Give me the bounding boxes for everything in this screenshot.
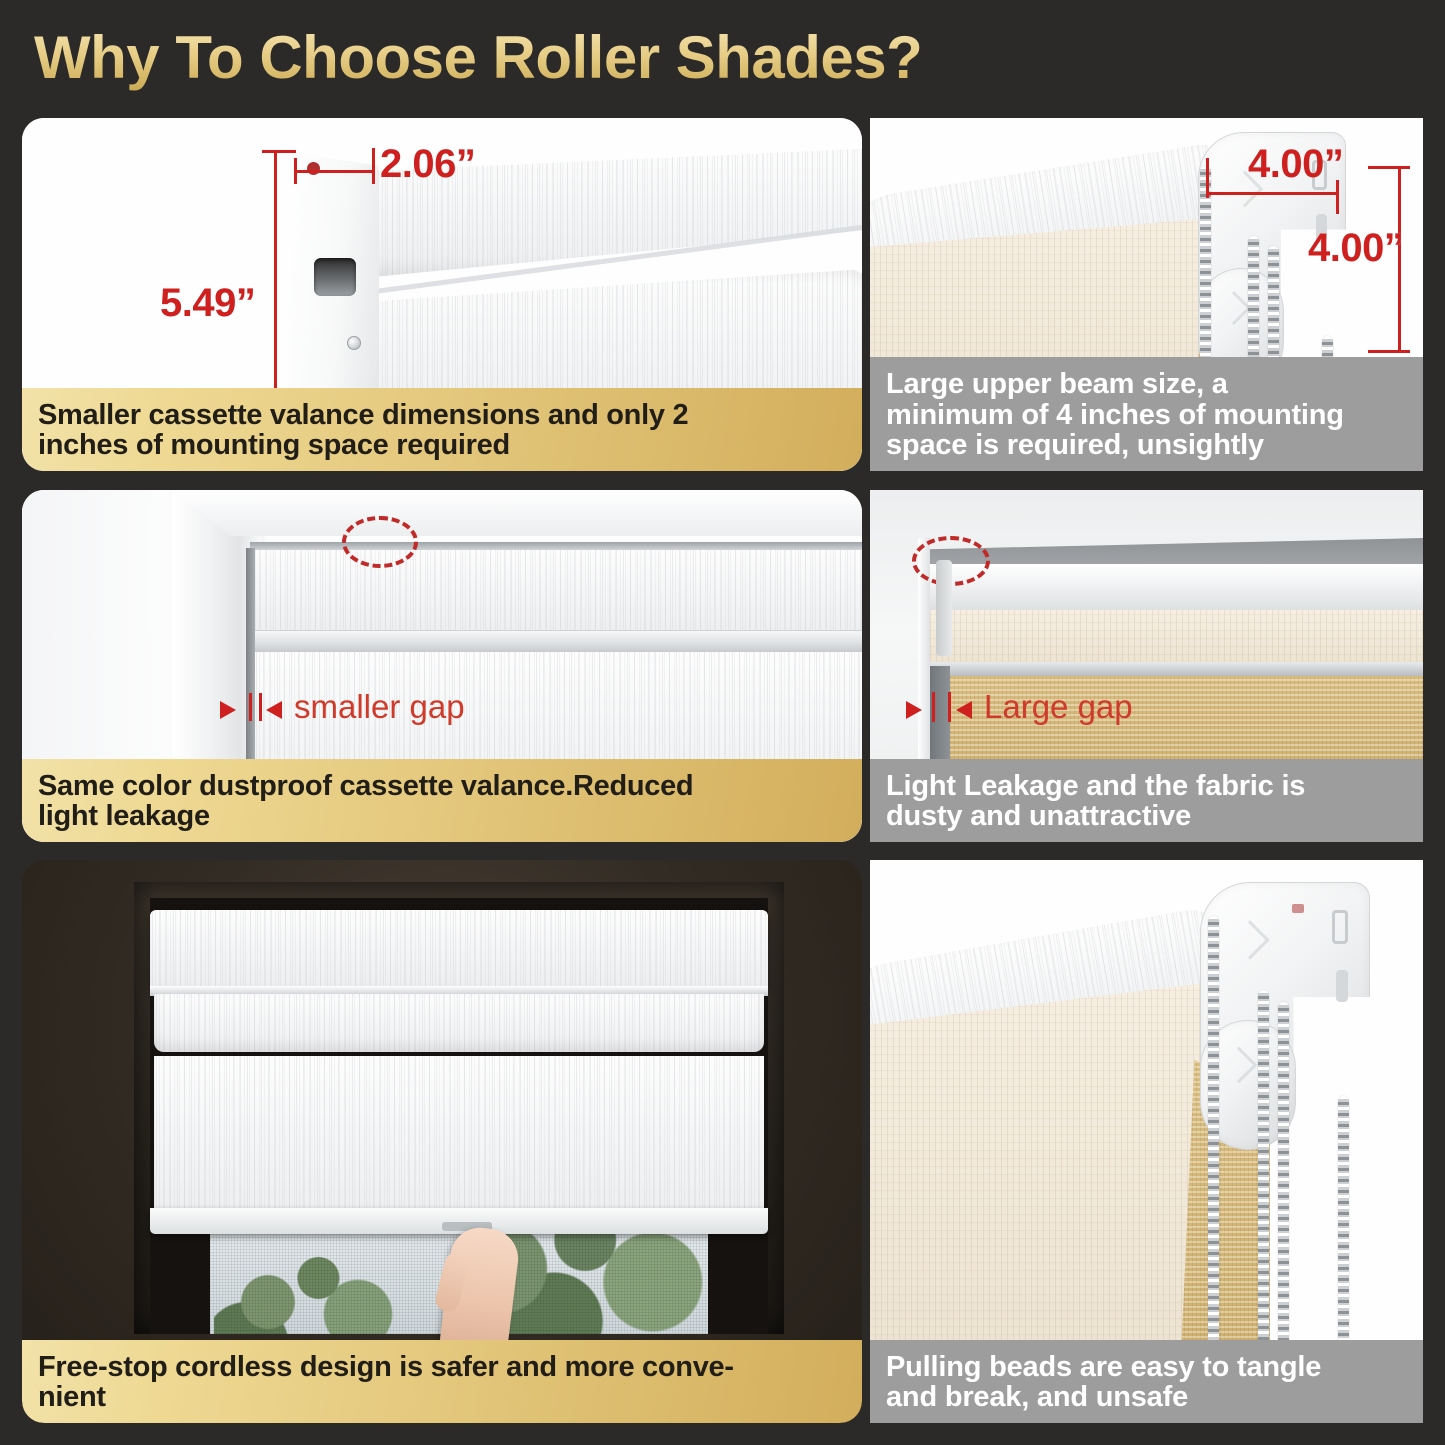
dim-height-label: 5.49” [160,281,255,326]
gap-arrow-left-shape [220,701,236,719]
bracket-slot-lower [1336,970,1348,1002]
bracket-slot-upper [1332,910,1348,944]
caption-line: Smaller cassette valance dimensions and … [38,400,846,431]
caption-line: nient [38,1382,846,1413]
caption-light-leakage: Light Leakage and the fabric is dusty an… [870,759,1423,842]
mounting-hook [936,560,952,656]
fabric-cream-band [928,610,1423,666]
gap-arrow-right-shape [266,701,282,719]
panel-cassette-dimensions: 2.06” 5.49” Smaller cassette valance dim… [22,118,862,471]
infographic-page: Why To Choose Roller Shades? [0,0,1445,1445]
caption-line: and break, and unsafe [886,1382,1407,1413]
gap-marker-line-b [259,693,262,721]
bead-chain-1 [1208,916,1219,1376]
gap-label: Large gap [984,688,1133,726]
panel-free-stop-cordless: Free-stop cordless design is safer and m… [22,860,862,1423]
caption-line: light leakage [38,801,846,832]
caption-line: Same color dustproof cassette valance.Re… [38,771,846,802]
caption-line: space is required, unsightly [886,430,1407,461]
shade-fabric-main [154,1056,764,1216]
bead-chain-3 [1278,1002,1289,1376]
end-cap-slot [314,258,356,296]
end-cap-mid-screw [347,336,361,350]
caption-line: Light Leakage and the fabric is [886,771,1407,802]
panel-dustproof-cassette: smaller gap Same color dustproof cassett… [22,490,862,842]
caption-line: minimum of 4 inches of mounting [886,400,1407,431]
beam-width-rule [1206,192,1338,195]
end-cap-top-screw [307,162,320,175]
panel-pulling-beads: Pulling beads are easy to tangle and bre… [870,860,1423,1423]
beam-height-label: 4.00” [1308,226,1403,271]
dim-height-tick-top [262,150,296,153]
shade-fabric-upper [250,550,862,635]
cassette-front-roll [154,994,764,1052]
gap-marker-line-a [932,692,935,722]
caption-line: Free-stop cordless design is safer and m… [38,1352,846,1383]
dim-width-tick-right [372,148,375,184]
bracket-indicator-dot [1292,904,1304,913]
gap-marker-line-a [249,693,252,721]
beam-height-tick-bottom [1368,350,1410,353]
gap-marker-line-b [948,692,951,722]
caption-large-upper-beam: Large upper beam size, a minimum of 4 in… [870,357,1423,471]
bead-chain-2 [1258,990,1269,1376]
beam-height-tick-top [1368,166,1410,169]
caption-dustproof-cassette: Same color dustproof cassette valance.Re… [22,759,862,842]
panel-light-leakage: Large gap Light Leakage and the fabric i… [870,490,1423,842]
gap-arrow-left-shape [906,701,922,719]
bead-chain-4 [1338,1096,1349,1376]
cassette-bottom-bar [250,630,862,652]
gap-label: smaller gap [294,688,465,726]
cassette-valance [150,910,768,988]
caption-line: inches of mounting space required [38,430,846,461]
caption-line: dusty and unattractive [886,801,1407,832]
beam-width-label: 4.00” [1248,142,1343,187]
beam-width-tick-left [1206,158,1209,198]
comparison-grid: 2.06” 5.49” Smaller cassette valance dim… [0,0,1445,1445]
highlight-circle [342,516,418,568]
window-frame-top [172,490,862,536]
photo-cordless-room [22,860,862,1423]
caption-line: Large upper beam size, a [886,369,1407,400]
caption-free-stop-cordless: Free-stop cordless design is safer and m… [22,1340,862,1423]
panel-large-upper-beam: 4.00” 4.00” Large upper beam size, a min… [870,118,1423,471]
caption-line: Pulling beads are easy to tangle [886,1352,1407,1383]
caption-pulling-beads: Pulling beads are easy to tangle and bre… [870,1340,1423,1423]
dim-width-rule [294,170,374,173]
beam-bottom-rail [928,662,1423,676]
gap-arrow-right-shape [956,701,972,719]
dim-width-tick-left [294,158,297,184]
beam-tube [928,564,1423,616]
caption-cassette-dimensions: Smaller cassette valance dimensions and … [22,388,862,471]
dim-width-label: 2.06” [380,142,475,187]
